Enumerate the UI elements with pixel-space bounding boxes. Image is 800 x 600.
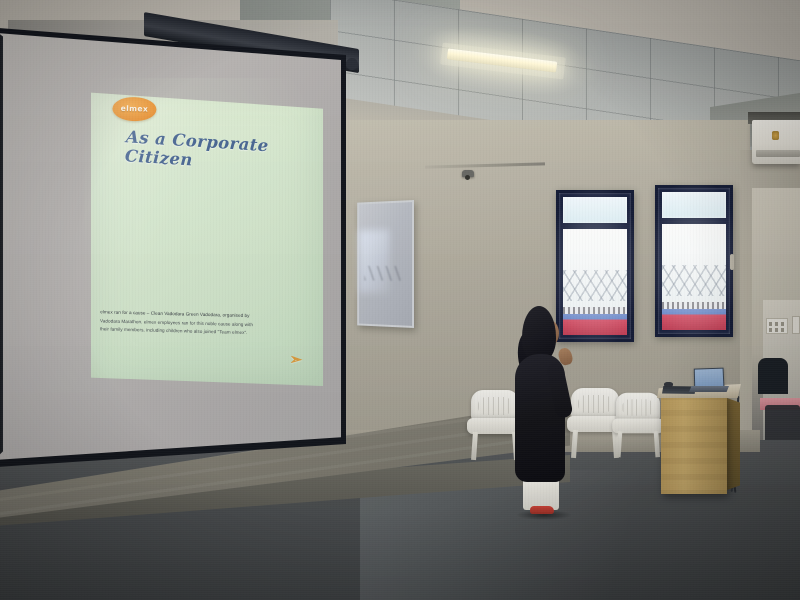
- razor-wire-outside: [563, 270, 627, 301]
- projected-slide: elmex As a Corporate Citizen elmex ran f…: [91, 86, 323, 386]
- light-switch-panel[interactable]: [766, 318, 788, 334]
- laptop-screen[interactable]: [694, 368, 725, 389]
- window-glass: [662, 224, 726, 302]
- ac-indicator-led-icon: [772, 131, 779, 140]
- whiteboard-markings: [364, 266, 401, 281]
- slide-title: As a Corporate Citizen: [124, 127, 316, 177]
- presenter-shoe: [530, 506, 554, 514]
- whiteboard: [357, 200, 414, 328]
- window-latch[interactable]: [730, 254, 734, 270]
- chair-leg: [654, 431, 660, 457]
- photo-scene: elmex As a Corporate Citizen elmex ran f…: [0, 0, 800, 600]
- elmex-logo-icon: elmex: [112, 97, 157, 122]
- window-lower-pane: [662, 302, 726, 330]
- secondary-switch-panel[interactable]: [792, 316, 800, 334]
- plastic-chair: [611, 393, 664, 457]
- slide-content: elmex As a Corporate Citizen elmex ran f…: [83, 86, 323, 392]
- background-person: [758, 358, 788, 394]
- logo-brand-text: elmex: [112, 104, 156, 114]
- chair-back: [616, 393, 660, 421]
- slide-arrow-icon: ➣: [284, 353, 302, 367]
- laptop-keyboard-base[interactable]: [689, 386, 729, 392]
- razor-wire-outside: [662, 265, 726, 296]
- screen-left-edge: [0, 30, 3, 460]
- security-camera-icon: [462, 170, 474, 177]
- presenter: [505, 306, 579, 516]
- window-transom: [563, 197, 627, 223]
- projector-screen: elmex As a Corporate Citizen elmex ran f…: [0, 14, 354, 474]
- mouse-icon[interactable]: [664, 382, 673, 387]
- screen-roller-cap: [346, 58, 358, 70]
- window-right: [655, 185, 733, 337]
- window-glass: [563, 229, 627, 307]
- chair-leg: [471, 432, 478, 460]
- window-transom: [662, 192, 726, 218]
- air-conditioner-icon: [752, 120, 800, 164]
- podium-side-panel: [727, 398, 740, 490]
- slide-body-text: elmex ran for a cause – Clean Vadodara G…: [100, 308, 299, 339]
- wooden-podium: [661, 394, 727, 494]
- ac-vent: [756, 150, 800, 157]
- whiteboard-glare: [359, 230, 389, 293]
- chair-leg: [616, 431, 622, 457]
